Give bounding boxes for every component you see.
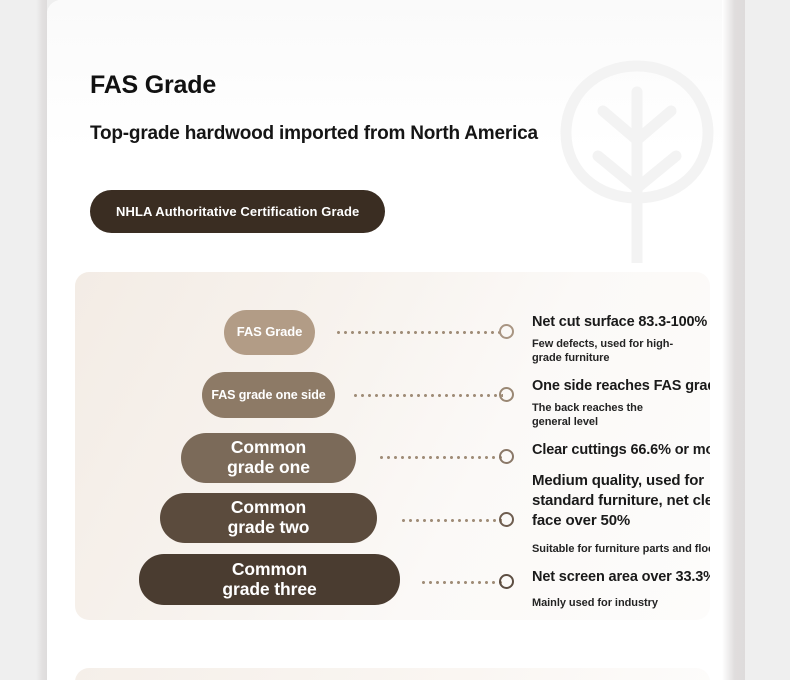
grade-bar-fas-grade[interactable]: FAS Grade [224, 310, 315, 355]
grade-desc-note: The back reaches the general level [532, 401, 710, 430]
connector-dots-4 [400, 519, 502, 522]
card-left-shadow [36, 0, 47, 680]
grade-desc-2: One side reaches FAS grade The back reac… [532, 377, 710, 430]
grade-desc-note: Suitable for furniture parts and floor s… [532, 542, 710, 557]
grade-desc-1: Net cut surface 83.3-100% Few defects, u… [532, 313, 710, 366]
grade-desc-title: Net screen area over 33.3% [532, 568, 710, 587]
connector-dots-1 [335, 331, 503, 334]
connector-dots-5 [420, 581, 502, 584]
grade-desc-title: Net cut surface 83.3-100% [532, 313, 710, 332]
connector-ring-3 [499, 449, 514, 464]
grade-bar-common-three[interactable]: Common grade three [139, 554, 400, 605]
connector-ring-5 [499, 574, 514, 589]
grade-desc-note: Mainly used for industry [532, 596, 710, 611]
grade-bar-label: Common grade one [227, 438, 310, 477]
grade-bar-fas-one-side[interactable]: FAS grade one side [202, 372, 335, 418]
grade-desc-note: Few defects, used for high- grade furnit… [532, 337, 710, 366]
grade-desc-5: Net screen area over 33.3% Mainly used f… [532, 568, 710, 610]
grade-bar-common-two[interactable]: Common grade two [160, 493, 377, 543]
grade-desc-title: Medium quality, used for standard furnit… [532, 471, 710, 531]
grade-bar-label: Common grade two [228, 498, 310, 537]
page-title: FAS Grade [90, 72, 650, 100]
connector-ring-4 [499, 512, 514, 527]
grade-bar-label: FAS grade one side [211, 388, 325, 402]
certification-badge[interactable]: NHLA Authoritative Certification Grade [90, 190, 385, 233]
grade-desc-3: Clear cuttings 66.6% or more [532, 441, 710, 460]
grade-desc-title: One side reaches FAS grade [532, 377, 710, 396]
next-section-panel [75, 668, 710, 680]
grade-bar-common-one[interactable]: Common grade one [181, 433, 356, 483]
grade-pyramid-panel: FAS Grade Net cut surface 83.3-100% Few … [75, 272, 710, 620]
infographic-page: FAS Grade Top-grade hardwood imported fr… [0, 0, 790, 680]
content-card: FAS Grade Top-grade hardwood imported fr… [47, 0, 745, 680]
connector-dots-3 [378, 456, 502, 459]
header-block: FAS Grade Top-grade hardwood imported fr… [90, 72, 650, 146]
connector-dots-2 [352, 394, 503, 397]
grade-bar-label: FAS Grade [237, 325, 303, 340]
grade-desc-title: Clear cuttings 66.6% or more [532, 441, 710, 460]
connector-ring-1 [499, 324, 514, 339]
page-subtitle: Top-grade hardwood imported from North A… [90, 121, 540, 146]
grade-bar-label: Common grade three [222, 560, 316, 599]
connector-ring-2 [499, 387, 514, 402]
grade-desc-4: Medium quality, used for standard furnit… [532, 471, 710, 556]
